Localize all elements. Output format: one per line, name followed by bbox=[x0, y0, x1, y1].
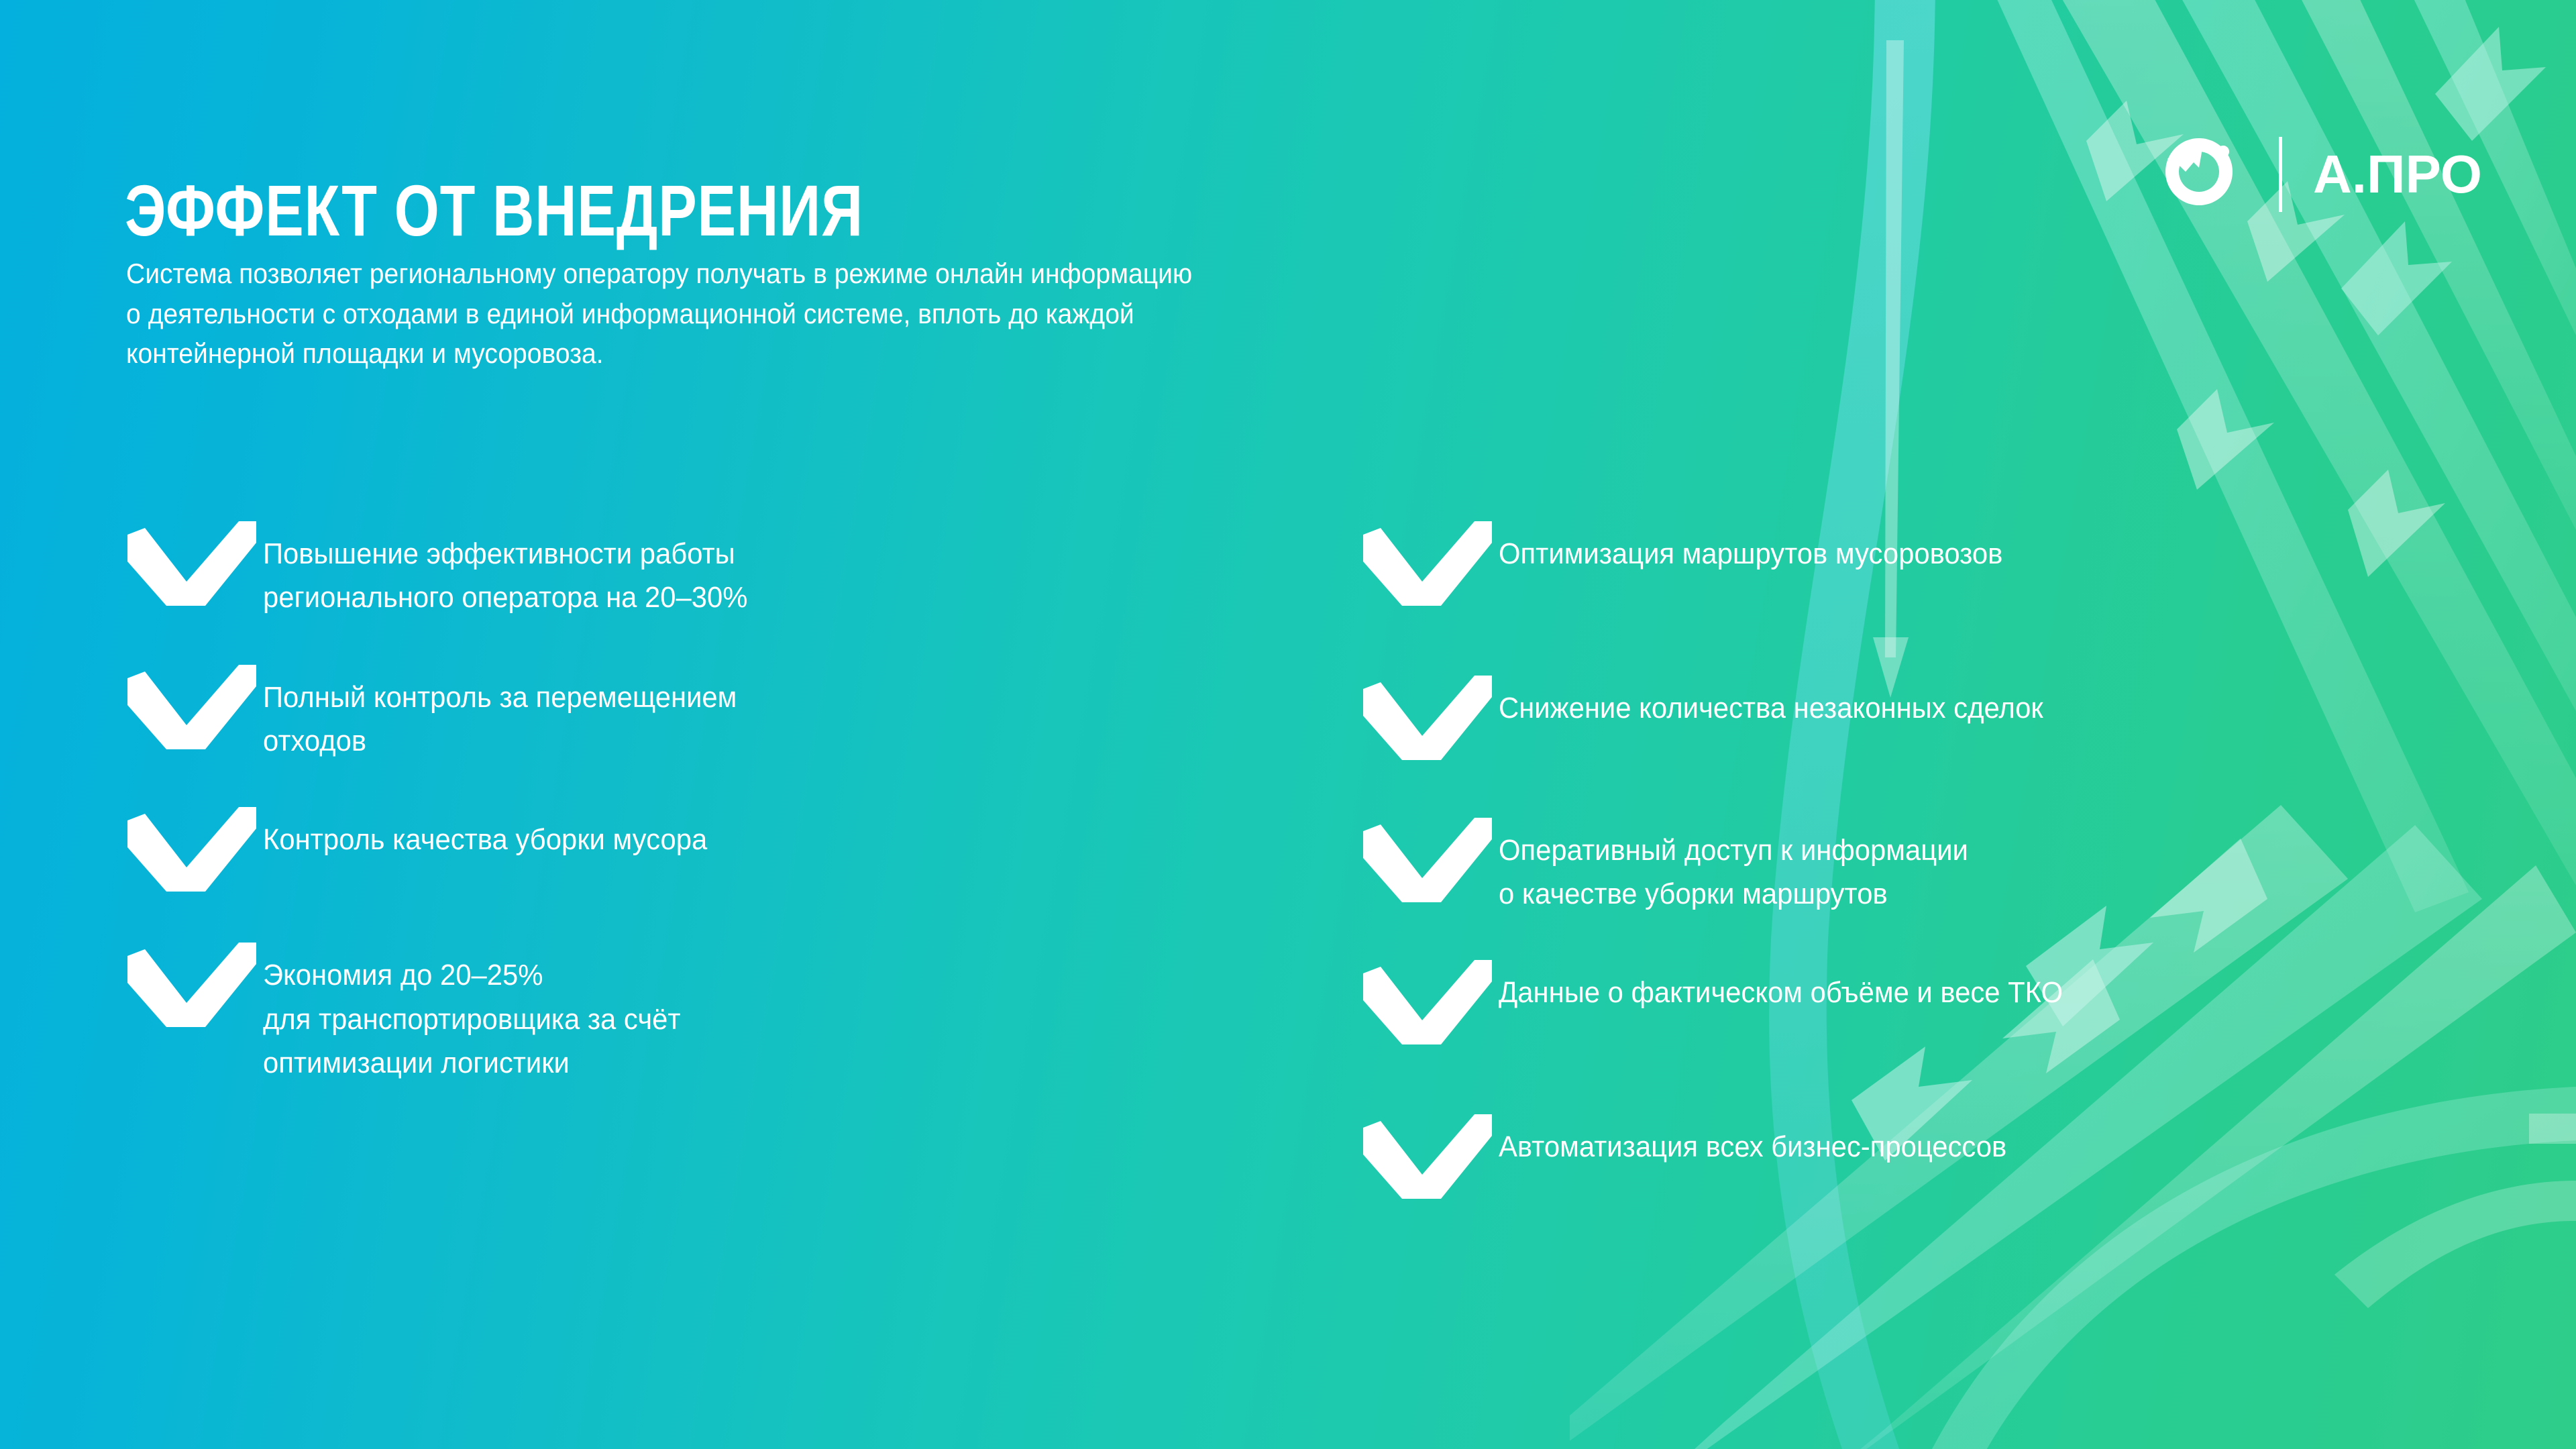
benefit-item: Контроль качества уборки мусора bbox=[125, 806, 1225, 893]
benefit-text: Повышение эффективности работы региональ… bbox=[263, 520, 747, 619]
benefit-line: Полный контроль за перемещением bbox=[263, 676, 737, 719]
benefit-line: Повышение эффективности работы bbox=[263, 532, 747, 576]
benefit-line: регионального оператора на 20–30% bbox=[263, 576, 747, 619]
benefit-text: Экономия до 20–25% для транспортировщика… bbox=[263, 941, 681, 1084]
logo-divider bbox=[2279, 137, 2282, 212]
subtitle-line-1: Система позволяет региональному оператор… bbox=[126, 254, 1686, 294]
benefit-text: Контроль качества уборки мусора bbox=[263, 806, 707, 861]
check-icon bbox=[1360, 1113, 1492, 1200]
benefit-line: Экономия до 20–25% bbox=[263, 953, 681, 997]
benefit-item: Экономия до 20–25% для транспортировщика… bbox=[125, 941, 1225, 1084]
benefit-text: Автоматизация всех бизнес-процессов bbox=[1499, 1113, 2006, 1169]
benefit-text: Снижение количества незаконных сделок bbox=[1499, 674, 2043, 730]
benefit-item: Повышение эффективности работы региональ… bbox=[125, 520, 1225, 619]
benefit-line: отходов bbox=[263, 719, 737, 763]
check-icon bbox=[125, 663, 256, 751]
benefit-line: Данные о фактическом объёме и весе ТКО bbox=[1499, 971, 2063, 1014]
benefit-item: Оптимизация маршрутов мусоровозов bbox=[1360, 520, 2407, 607]
check-icon bbox=[125, 941, 256, 1028]
brand-logo: R А.ПРО bbox=[2159, 124, 2482, 225]
benefits-right-column: Оптимизация маршрутов мусоровозов Снижен… bbox=[1360, 520, 2407, 1200]
check-icon bbox=[1360, 816, 1492, 904]
circle-arrow-logo-icon: R bbox=[2159, 126, 2256, 223]
check-icon bbox=[1360, 674, 1492, 761]
check-icon bbox=[1360, 959, 1492, 1046]
benefit-item: Снижение количества незаконных сделок bbox=[1360, 674, 2407, 761]
benefit-line: оптимизации логистики bbox=[263, 1041, 681, 1085]
benefit-item: Данные о фактическом объёме и весе ТКО bbox=[1360, 959, 2407, 1046]
subtitle-line-2: о деятельности с отходами в единой инфор… bbox=[126, 294, 1686, 334]
benefit-line: Автоматизация всех бизнес-процессов bbox=[1499, 1125, 2006, 1169]
check-icon bbox=[125, 806, 256, 893]
check-icon bbox=[1360, 520, 1492, 607]
subtitle-line-3: контейнерной площадки и мусоровоза. bbox=[126, 333, 1686, 374]
benefit-text: Оперативный доступ к информации о качест… bbox=[1499, 816, 1968, 916]
slide-subtitle: Система позволяет региональному оператор… bbox=[126, 254, 1686, 374]
benefit-text: Данные о фактическом объёме и весе ТКО bbox=[1499, 959, 2063, 1014]
benefit-item: Полный контроль за перемещением отходов bbox=[125, 663, 1225, 763]
slide-root: ЭФФЕКТ ОТ ВНЕДРЕНИЯ Система позволяет ре… bbox=[0, 0, 2576, 1449]
benefit-line: Снижение количества незаконных сделок bbox=[1499, 686, 2043, 730]
benefit-line: Контроль качества уборки мусора bbox=[263, 818, 707, 861]
benefit-item: Оперативный доступ к информации о качест… bbox=[1360, 816, 2407, 916]
page-title: ЭФФЕКТ ОТ ВНЕДРЕНИЯ bbox=[125, 174, 863, 247]
benefit-text: Оптимизация маршрутов мусоровозов bbox=[1499, 520, 2002, 576]
logo-wordmark: А.ПРО bbox=[2313, 148, 2482, 201]
benefit-line: Оптимизация маршрутов мусоровозов bbox=[1499, 532, 2002, 576]
svg-text:R: R bbox=[2221, 155, 2226, 162]
benefit-line: для транспортировщика за счёт bbox=[263, 998, 681, 1041]
benefit-text: Полный контроль за перемещением отходов bbox=[263, 663, 737, 763]
benefit-line: Оперативный доступ к информации bbox=[1499, 828, 1968, 872]
benefit-line: о качестве уборки маршрутов bbox=[1499, 872, 1968, 916]
benefit-item: Автоматизация всех бизнес-процессов bbox=[1360, 1113, 2407, 1200]
check-icon bbox=[125, 520, 256, 607]
benefits-left-column: Повышение эффективности работы региональ… bbox=[125, 520, 1225, 1085]
